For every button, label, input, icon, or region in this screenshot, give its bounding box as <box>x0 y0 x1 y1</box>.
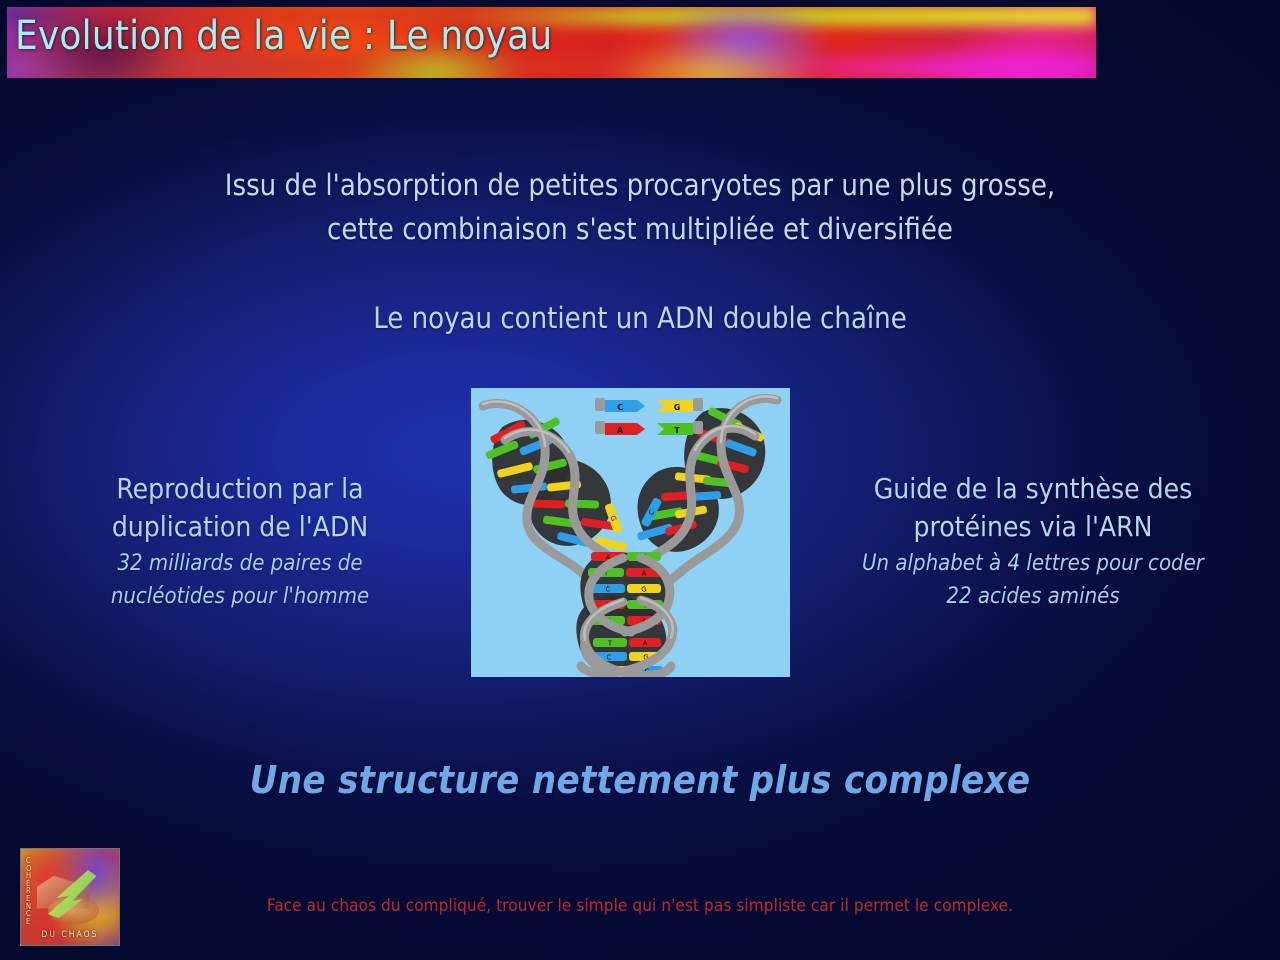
left-column-heading-line-1: Reproduction par la <box>30 470 450 508</box>
conclusion-statement: Une structure nettement plus complexe <box>0 758 1280 802</box>
left-column-subtext-line-2: nucléotides pour l'homme <box>30 581 450 612</box>
right-column-subtext-line-2: 22 acides aminés <box>808 581 1258 612</box>
svg-text:C: C <box>606 586 611 594</box>
right-column-heading-line-2: protéines via l'ARN <box>808 508 1258 546</box>
svg-text:G: G <box>641 586 646 594</box>
slide-title: Evolution de la vie : Le noyau <box>15 13 552 59</box>
slide-canvas: Evolution de la vie : Le noyau Issu de l… <box>0 0 1280 960</box>
nucleus-statement: Le noyau contient un ADN double chaîne <box>0 298 1280 338</box>
right-column-subtext-line-1: Un alphabet à 4 lettres pour coder <box>808 548 1258 579</box>
intro-line-1: Issu de l'absorption de petites procaryo… <box>0 163 1280 207</box>
svg-text:T: T <box>674 426 680 435</box>
left-column-heading-line-2: duplication de l'ADN <box>30 508 450 546</box>
right-column-heading-line-1: Guide de la synthèse des <box>808 470 1258 508</box>
svg-text:A: A <box>617 426 624 435</box>
banner-blob-magenta <box>922 35 1096 78</box>
footer-tagline: Face au chaos du compliqué, trouver le s… <box>0 896 1280 916</box>
conference-du-chaos-logo: COHÉRENCE DU CHAOS <box>20 848 120 946</box>
logo-horizontal-text: DU CHAOS <box>21 930 119 940</box>
right-column: Guide de la synthèse des protéines via l… <box>808 470 1258 612</box>
logo-vertical-text: COHÉRENCE <box>26 857 32 925</box>
svg-text:A: A <box>643 640 648 648</box>
left-column: Reproduction par la duplication de l'ADN… <box>30 470 450 612</box>
svg-text:C: C <box>617 403 623 412</box>
banner-blob-yellow <box>606 44 816 78</box>
svg-text:A: A <box>642 570 647 578</box>
left-column-subtext-line-1: 32 milliards de paires de <box>30 548 450 579</box>
svg-text:T: T <box>607 640 613 648</box>
intro-line-2: cette combinaison s'est multipliée et di… <box>0 207 1280 251</box>
svg-text:C: C <box>607 654 612 662</box>
dna-replication-fork-illustration: G C A T T A C G <box>471 388 790 677</box>
intro-paragraph: Issu de l'absorption de petites procaryo… <box>0 163 1280 251</box>
svg-text:G: G <box>674 403 681 412</box>
